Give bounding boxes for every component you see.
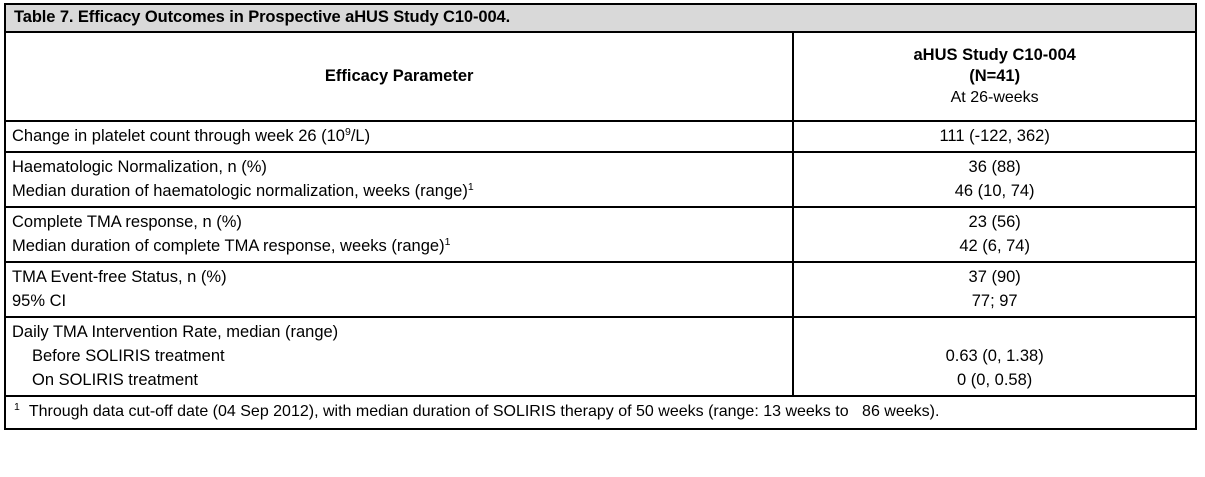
- footnote-line-1: Through data cut-off date (04 Sep 2012),…: [29, 403, 849, 420]
- row-parameter: Change in platelet count through week 26…: [6, 121, 793, 152]
- table-grid: Efficacy Parameter aHUS Study C10-004 (N…: [6, 33, 1195, 395]
- row-value: 23 (56) 42 (6, 74): [793, 207, 1195, 262]
- footnote-text: Through data cut-off date (04 Sep 2012),…: [20, 400, 1159, 423]
- table-row: Complete TMA response, n (%) Median dura…: [6, 207, 1195, 262]
- table-row: Haematologic Normalization, n (%) Median…: [6, 152, 1195, 207]
- parameter-line: Median duration of haematologic normaliz…: [12, 179, 786, 203]
- value-line: 23 (56): [800, 210, 1189, 234]
- row-value: 111 (-122, 362): [793, 121, 1195, 152]
- parameter-line: On SOLIRIS treatment: [12, 368, 786, 392]
- parameter-line: TMA Event-free Status, n (%): [12, 265, 786, 289]
- row-parameter: TMA Event-free Status, n (%) 95% CI: [6, 262, 793, 317]
- row-value: 36 (88) 46 (10, 74): [793, 152, 1195, 207]
- row-parameter: Daily TMA Intervention Rate, median (ran…: [6, 317, 793, 395]
- table-caption-text: Table 7. Efficacy Outcomes in Prospectiv…: [14, 8, 1195, 27]
- value-line: 36 (88): [800, 155, 1189, 179]
- table-row: Change in platelet count through week 26…: [6, 121, 1195, 152]
- row-value: 37 (90) 77; 97: [793, 262, 1195, 317]
- parameter-line: Before SOLIRIS treatment: [12, 344, 786, 368]
- header-cell-study: aHUS Study C10-004 (N=41) At 26-weeks: [793, 33, 1195, 121]
- table-row: Daily TMA Intervention Rate, median (ran…: [6, 317, 1195, 395]
- header-study-label: aHUS Study C10-004: [800, 45, 1189, 66]
- value-line: 77; 97: [800, 289, 1189, 313]
- table-row: TMA Event-free Status, n (%) 95% CI 37 (…: [6, 262, 1195, 317]
- parameter-line: Complete TMA response, n (%): [12, 210, 786, 234]
- row-parameter: Haematologic Normalization, n (%) Median…: [6, 152, 793, 207]
- parameter-line: Median duration of complete TMA response…: [12, 234, 786, 258]
- value-line: 46 (10, 74): [800, 179, 1189, 203]
- footnote-line-2: 86 weeks).: [853, 403, 939, 420]
- header-parameter-label: Efficacy Parameter: [12, 66, 786, 87]
- value-line: 111 (-122, 362): [800, 124, 1189, 148]
- value-line: 37 (90): [800, 265, 1189, 289]
- table-caption: Table 7. Efficacy Outcomes in Prospectiv…: [6, 5, 1195, 33]
- header-cell-parameter: Efficacy Parameter: [6, 33, 793, 121]
- row-parameter: Complete TMA response, n (%) Median dura…: [6, 207, 793, 262]
- row-value: 0.63 (0, 1.38) 0 (0, 0.58): [793, 317, 1195, 395]
- header-study-n: (N=41): [800, 66, 1189, 87]
- parameter-line: Haematologic Normalization, n (%): [12, 155, 786, 179]
- table-header-row: Efficacy Parameter aHUS Study C10-004 (N…: [6, 33, 1195, 121]
- parameter-line: Daily TMA Intervention Rate, median (ran…: [12, 320, 786, 344]
- parameter-line: Change in platelet count through week 26…: [12, 124, 786, 148]
- efficacy-outcomes-table: Table 7. Efficacy Outcomes in Prospectiv…: [4, 3, 1197, 430]
- table-footnote: 1 Through data cut-off date (04 Sep 2012…: [6, 395, 1195, 428]
- value-line: 0.63 (0, 1.38): [800, 344, 1189, 368]
- header-study-timepoint: At 26-weeks: [800, 87, 1189, 108]
- parameter-line: 95% CI: [12, 289, 786, 313]
- value-line: 42 (6, 74): [800, 234, 1189, 258]
- value-line: 0 (0, 0.58): [800, 368, 1189, 392]
